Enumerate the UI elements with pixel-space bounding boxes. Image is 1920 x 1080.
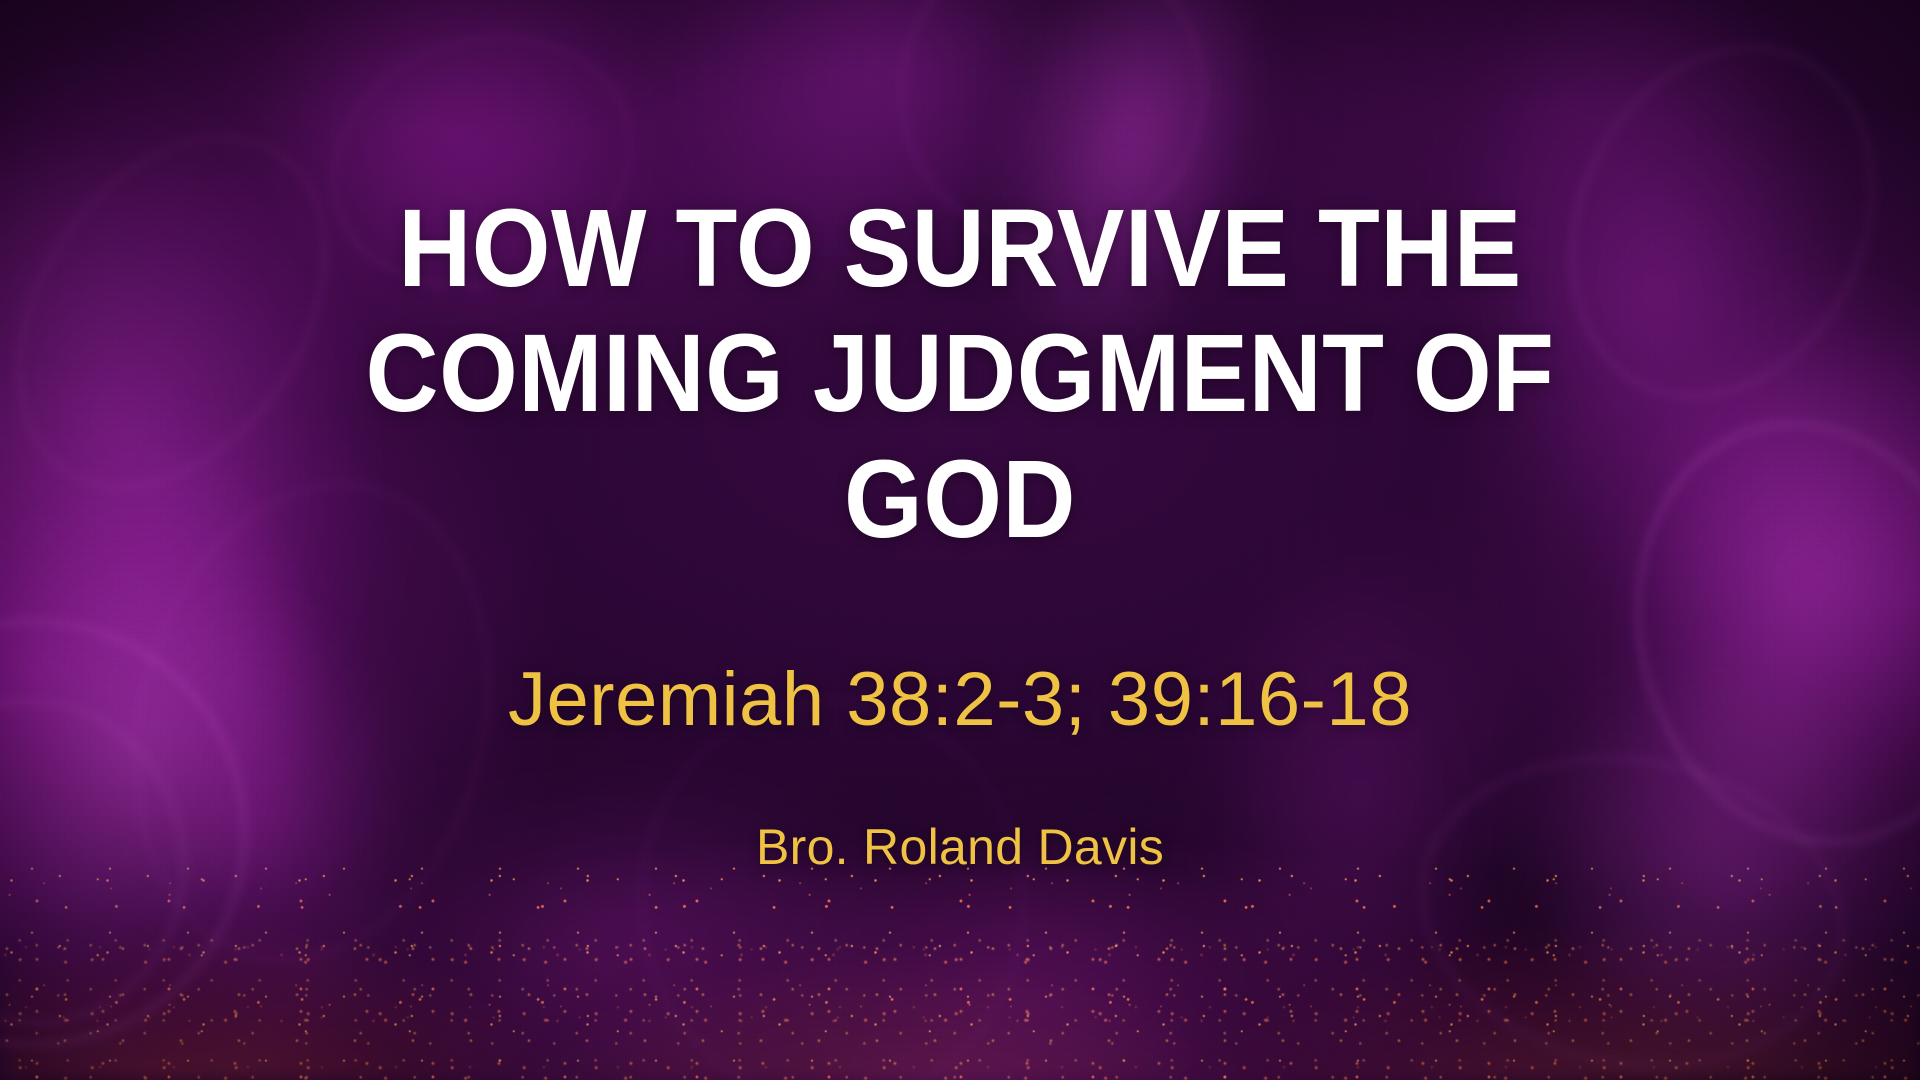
speaker-name: Bro. Roland Davis [756, 820, 1164, 875]
slide-title-line-2: COMING JUDGMENT OF [366, 312, 1555, 435]
slide-title-line-3: GOD [844, 438, 1076, 561]
slide-title: HOW TO SURVIVE THE COMING JUDGMENT OF GO… [215, 186, 1705, 562]
slide-content: HOW TO SURVIVE THE COMING JUDGMENT OF GO… [0, 0, 1920, 1080]
scripture-reference: Jeremiah 38:2-3; 39:16-18 [508, 658, 1412, 742]
sermon-title-slide: HOW TO SURVIVE THE COMING JUDGMENT OF GO… [0, 0, 1920, 1080]
slide-title-line-1: HOW TO SURVIVE THE [398, 187, 1522, 310]
